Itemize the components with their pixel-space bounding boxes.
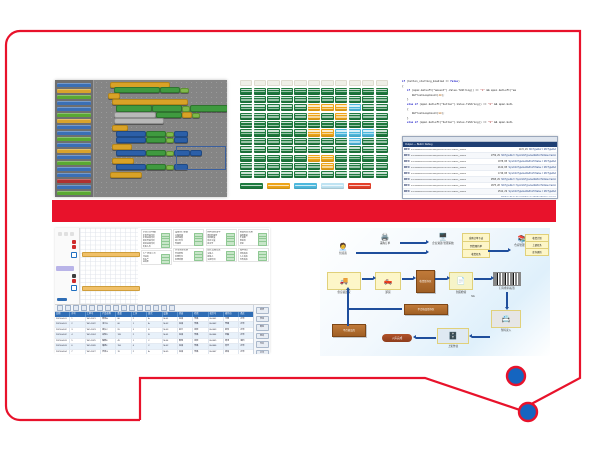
status-cell[interactable] [294, 88, 306, 95]
document-icon: 📄 [457, 278, 466, 285]
barcode-icon [493, 272, 521, 286]
block-comment-b[interactable] [114, 118, 164, 124]
table-cell: WO-1027 [86, 350, 101, 354]
slide-root: if (button_starting_Enabled == false){if… [0, 0, 600, 450]
block-compare-e[interactable] [146, 164, 166, 170]
node-label: 打印条码标签 [499, 287, 515, 290]
status-cell[interactable] [254, 146, 266, 153]
status-cell[interactable] [267, 146, 279, 153]
note-line: 交接时间 [207, 258, 235, 261]
arrowhead-icon [447, 276, 450, 280]
arrowhead-icon [426, 240, 429, 244]
warehouse-flow-diagram: 🧑‍💼 供应商 🖨️ 采购订单 🖥️ 企业资源 管理系统 采购订单下达 到货预约… [320, 228, 550, 356]
status-cell[interactable] [308, 113, 320, 120]
note-value [161, 244, 170, 248]
status-grid-legend [240, 183, 388, 189]
note-block: 异常处理记录异常类型处理时长处理结果 [173, 248, 204, 263]
status-cell[interactable] [254, 104, 266, 111]
node-unload: 🛻 卸货 [376, 272, 400, 294]
node-label: 条码录入 [501, 329, 511, 332]
node-done: 入库完成 [382, 334, 412, 342]
note-column: 设备运行参数主轴转速进给速度加工时长合格率异常处理记录异常类型处理时长处理结果 [173, 229, 204, 303]
status-cell[interactable] [321, 104, 333, 111]
status-cell[interactable] [349, 155, 361, 162]
status-cell[interactable] [349, 121, 361, 128]
legend-item-inspect [294, 183, 317, 189]
status-cell[interactable] [281, 121, 293, 128]
status-grid-header [240, 80, 388, 86]
open-icon[interactable] [65, 305, 71, 311]
status-cell[interactable] [362, 104, 374, 111]
table-side-button[interactable]: 修改 [256, 316, 269, 323]
block-compare-b[interactable] [146, 137, 166, 143]
status-cell[interactable] [376, 104, 388, 111]
note-label: 处理结果 [175, 258, 193, 261]
status-cell[interactable] [321, 146, 333, 153]
note-block: 班次交接信息交班人接班人交接时间 [206, 248, 237, 263]
status-cell[interactable] [321, 171, 333, 178]
status-cell[interactable] [267, 129, 279, 136]
status-cell[interactable] [281, 138, 293, 145]
copy-icon[interactable] [97, 305, 103, 311]
note-value [194, 257, 203, 261]
decorative-frame [0, 0, 600, 450]
status-cell[interactable] [281, 113, 293, 120]
note-column: 作业计划明细计划开始时间计划完成时间实际开始时间实际完成时间负责人员生产进度汇总… [141, 229, 172, 303]
note-line: 综合成本 [240, 258, 268, 261]
block-setcolor-c[interactable] [116, 150, 146, 156]
status-cell[interactable] [349, 88, 361, 95]
arrow-unload-receiving [402, 278, 413, 280]
block-join[interactable] [190, 105, 227, 112]
note-block: 质量检验记录抽检数量不良数检验员结论 [238, 229, 269, 246]
node-label-print: 打印条码标签 [494, 272, 520, 290]
status-cell[interactable] [308, 88, 320, 95]
status-cell[interactable] [294, 163, 306, 170]
status-cell[interactable] [376, 113, 388, 120]
node-label: 到货检验 [456, 291, 466, 294]
status-cell[interactable] [281, 155, 293, 162]
status-cell[interactable] [321, 96, 333, 103]
arrowhead-icon [508, 248, 511, 252]
note-block: 作业计划明细计划开始时间计划完成时间实际开始时间实际完成时间负责人员 [141, 229, 172, 249]
status-cell[interactable] [267, 155, 279, 162]
status-cell[interactable] [308, 171, 320, 178]
node-receiving-area: 收货暂存区 [416, 270, 435, 293]
status-cell[interactable] [321, 113, 333, 120]
node-label: 卸货 [385, 291, 390, 294]
gantt-bar[interactable] [82, 252, 140, 257]
scanner-icon: 📇 [502, 316, 511, 323]
status-cell[interactable] [281, 146, 293, 153]
red-divider-banner [52, 200, 556, 222]
print-icon[interactable] [81, 305, 87, 311]
note-line: 批次号 [207, 242, 235, 245]
arrow-putaway-to-done [416, 337, 436, 339]
table-cell: 合格 [193, 350, 208, 354]
paste-icon[interactable] [105, 305, 111, 311]
arrow-transport-unload [362, 278, 373, 280]
status-cell[interactable] [254, 96, 266, 103]
status-cell[interactable] [349, 96, 361, 103]
status-cell[interactable] [362, 155, 374, 162]
sheet-row-headers [55, 228, 80, 304]
status-cell[interactable] [294, 129, 306, 136]
block-setcolor-e[interactable] [116, 164, 146, 170]
redo-icon[interactable] [121, 305, 127, 311]
note-value [258, 241, 267, 245]
table-side-buttons[interactable]: 新增修改删除查询导出打印 [253, 305, 270, 354]
status-cell[interactable] [335, 113, 347, 120]
note-label: 完成率 [143, 260, 161, 263]
block-eq-a[interactable] [166, 132, 174, 137]
table-side-button[interactable]: 删除 [256, 324, 269, 331]
status-cell[interactable] [362, 146, 374, 153]
sheet-upper-area: 作业计划明细计划开始时间计划完成时间实际开始时间实际完成时间负责人员生产进度汇总… [55, 228, 270, 305]
status-cell[interactable] [267, 104, 279, 111]
status-cell[interactable] [349, 104, 361, 111]
log-row-list[interactable]: INFOsrc/shared/controller/sample/MCS/UPD… [403, 147, 557, 197]
table-cell: A [147, 350, 162, 354]
table-body[interactable]: 2023-04-011WO-1021阀体A802AM-01完成合格B-0041王… [55, 317, 270, 355]
table-row[interactable]: 2023-04-047WO-1027壳体G702AM-05完成合格B-0047郑… [55, 350, 270, 354]
status-cell[interactable] [294, 113, 306, 120]
status-cell[interactable] [240, 96, 252, 103]
status-cell[interactable] [281, 104, 293, 111]
table-cell: M-05 [163, 350, 178, 354]
status-cell[interactable] [240, 88, 252, 95]
note-value [226, 241, 235, 245]
arrow-receiving-inspect [435, 278, 447, 280]
table-side-button[interactable]: 导出 [256, 341, 269, 348]
block-setcolor-b[interactable] [116, 137, 146, 143]
note-label: 负责人员 [143, 245, 161, 248]
block-op[interactable] [182, 106, 190, 112]
status-cell[interactable] [254, 155, 266, 162]
status-cell[interactable] [321, 155, 333, 162]
arrow-reject-up [347, 290, 349, 309]
status-cell[interactable] [321, 138, 333, 145]
note-value [258, 257, 267, 261]
log-row[interactable]: INFOsrc/shared/controller/sample/MCS/UPD… [403, 195, 557, 197]
status-cell[interactable] [294, 155, 306, 162]
status-cell[interactable] [376, 121, 388, 128]
status-cell[interactable] [335, 121, 347, 128]
status-cell[interactable] [376, 138, 388, 145]
status-cell[interactable] [267, 88, 279, 95]
status-cell[interactable] [267, 138, 279, 145]
node-transport: 🚚 供应商送货 [328, 272, 360, 294]
status-cell[interactable] [321, 88, 333, 95]
status-cell[interactable] [376, 163, 388, 170]
status-cell[interactable] [321, 163, 333, 170]
legend-item-error [348, 183, 371, 189]
arrow-inspect-print [474, 278, 491, 280]
arrow-erp-to-wms [488, 250, 508, 252]
table-cell: 7 [70, 350, 85, 354]
status-cell[interactable] [335, 146, 347, 153]
status-cell[interactable] [308, 121, 320, 128]
block-selection-frame [176, 146, 226, 170]
node-label: 上架作业 [448, 345, 458, 348]
status-cell[interactable] [294, 104, 306, 111]
table-side-button[interactable]: 新增 [256, 307, 269, 314]
block-logic[interactable] [182, 112, 192, 118]
status-cell[interactable] [362, 88, 374, 95]
status-cell[interactable] [281, 163, 293, 170]
status-cell[interactable] [240, 121, 252, 128]
legend-item-standby [321, 183, 344, 189]
status-cell[interactable] [308, 129, 320, 136]
data-table-area: 日期序号工单号产品名称数量工序班次设备状态检验批次号操作员备注时间 2023-0… [55, 305, 270, 354]
status-cell[interactable] [376, 146, 388, 153]
arrowhead-icon [426, 250, 429, 254]
arrowhead-icon [373, 276, 376, 280]
status-cell[interactable] [240, 113, 252, 120]
note-label: 合格率 [175, 242, 193, 245]
status-cell[interactable] [254, 171, 266, 178]
status-cell[interactable] [294, 171, 306, 178]
arrow-order-to-erp [400, 242, 426, 244]
computer-icon: 🖥️ [439, 234, 448, 241]
table-cell: 70 [116, 350, 131, 354]
status-cell[interactable] [281, 171, 293, 178]
block-parse[interactable] [116, 105, 152, 112]
code-editor-screenshot: if (button_starting_Enabled == false){if… [396, 80, 556, 197]
status-cell[interactable] [281, 88, 293, 95]
new-icon[interactable] [57, 305, 63, 311]
status-cell[interactable] [240, 129, 252, 136]
shelf-icon: 🗄️ [449, 333, 458, 340]
node-reject-store: 不合格品库 [332, 324, 366, 337]
note-line: 负责人员 [143, 245, 171, 248]
arrow-print-to-scan [506, 292, 508, 308]
arrowhead-icon [469, 334, 472, 338]
node-scan: 📇 条码录入 [492, 310, 520, 332]
truck-icon: 🚚 [340, 278, 349, 285]
table-cell: 完成 [178, 350, 193, 354]
settings-icon[interactable] [169, 305, 175, 311]
arrowhead-icon [505, 307, 509, 310]
arrow-supplier-to-erp [356, 252, 426, 254]
status-cell[interactable] [240, 138, 252, 145]
blocks-canvas[interactable] [94, 80, 227, 197]
status-cell[interactable] [281, 129, 293, 136]
status-cell[interactable] [335, 129, 347, 136]
status-cell[interactable] [308, 104, 320, 111]
table-side-button[interactable]: 打印 [256, 350, 269, 355]
arrowhead-icon [346, 287, 350, 290]
status-cell[interactable] [376, 88, 388, 95]
block-eq-b[interactable] [166, 138, 174, 143]
status-cell[interactable] [254, 121, 266, 128]
status-cell[interactable] [308, 96, 320, 103]
status-cell[interactable] [240, 155, 252, 162]
status-cell[interactable] [376, 129, 388, 136]
node-reject-area: 不合格品暂存区 [404, 304, 448, 315]
status-cell[interactable] [267, 96, 279, 103]
arrowhead-icon [491, 276, 494, 280]
status-cell[interactable] [349, 113, 361, 120]
status-cell[interactable] [335, 88, 347, 95]
status-cell[interactable] [308, 163, 320, 170]
undo-icon[interactable] [113, 305, 119, 311]
status-grid-cells[interactable] [240, 88, 388, 179]
node-erp: 🖥️ 企业资源 管理系统 [428, 234, 458, 245]
status-cell[interactable] [321, 121, 333, 128]
status-cell[interactable] [362, 96, 374, 103]
status-cell[interactable] [362, 138, 374, 145]
planning-sheet-screenshot: 作业计划明细计划开始时间计划完成时间实际开始时间实际完成时间负责人员生产进度汇总… [55, 228, 270, 353]
arrowhead-icon [413, 276, 416, 280]
code-line[interactable]: else if (mpmc.GetLeft("button").Value.To… [396, 121, 556, 126]
person-icon: 🧑‍💼 [339, 244, 348, 251]
note-label: 批次号 [207, 242, 225, 245]
status-cell[interactable] [335, 104, 347, 111]
status-cell[interactable] [362, 121, 374, 128]
block-eq-c[interactable] [166, 151, 174, 156]
note-label: 结论 [240, 242, 258, 245]
status-cell[interactable] [267, 171, 279, 178]
status-cell[interactable] [362, 129, 374, 136]
status-cell[interactable] [308, 138, 320, 145]
status-cell[interactable] [294, 121, 306, 128]
block-arg[interactable] [160, 87, 180, 93]
status-cell[interactable] [362, 163, 374, 170]
note-value [194, 241, 203, 245]
note-value [161, 260, 170, 264]
printer-icon: 🖨️ [381, 234, 390, 241]
status-cell[interactable] [240, 104, 252, 111]
status-cell[interactable] [294, 146, 306, 153]
status-cell[interactable] [308, 146, 320, 153]
arrowhead-icon [413, 335, 416, 339]
status-cell[interactable] [376, 155, 388, 162]
status-cell[interactable] [362, 171, 374, 178]
status-cell[interactable] [349, 171, 361, 178]
status-cell[interactable] [321, 129, 333, 136]
build-output-panel: Output — Build / Debug INFOsrc/shared/co… [402, 136, 558, 199]
table-cell: 郑海 [224, 350, 239, 354]
node-ng-mark: NG [468, 294, 478, 298]
blocks-palette[interactable] [55, 80, 94, 197]
status-cell[interactable] [267, 113, 279, 120]
note-value [226, 257, 235, 261]
note-column: 物料领用清单原材料编号领用数量库存余量批次号班次交接信息交班人接班人交接时间 [206, 229, 237, 303]
status-cell[interactable] [281, 96, 293, 103]
table-cell: 2023-04-04 [55, 350, 70, 354]
status-grid-screenshot [240, 80, 388, 197]
status-cell[interactable] [335, 163, 347, 170]
note-label: 交接时间 [207, 258, 225, 261]
status-cell[interactable] [254, 129, 266, 136]
node-putaway: 🗄️ 上架作业 [438, 328, 468, 348]
status-cell[interactable] [294, 138, 306, 145]
filter-icon[interactable] [129, 305, 135, 311]
block-reset-data[interactable] [110, 172, 142, 178]
note-line: 合格率 [175, 242, 203, 245]
accent-dot-lower [519, 403, 537, 421]
sort-icon[interactable] [137, 305, 143, 311]
status-cell[interactable] [308, 155, 320, 162]
search-icon[interactable] [145, 305, 151, 311]
status-cell[interactable] [349, 146, 361, 153]
status-cell[interactable] [254, 138, 266, 145]
status-cell[interactable] [254, 113, 266, 120]
status-cell[interactable] [240, 146, 252, 153]
node-inspect: 📄 到货检验 [450, 272, 472, 294]
block-plug[interactable] [180, 88, 189, 93]
cut-icon[interactable] [89, 305, 95, 311]
status-cell[interactable] [267, 163, 279, 170]
status-cell[interactable] [349, 138, 361, 145]
status-cell[interactable] [376, 171, 388, 178]
note-block: 成本统计材料成本人工成本综合成本 [238, 248, 269, 263]
note-block: 设备运行参数主轴转速进给速度加工时长合格率 [173, 229, 204, 246]
note-block: 生产进度汇总已完成待生产完成率 [141, 250, 172, 265]
node-label: 采购订单 [380, 242, 390, 245]
node-supplier: 🧑‍💼 供应商 [330, 244, 356, 255]
status-cell[interactable] [349, 129, 361, 136]
status-cell[interactable] [335, 138, 347, 145]
node-order: 🖨️ 采购订单 [372, 234, 398, 245]
status-cell[interactable] [294, 96, 306, 103]
blocks-editor-screenshot [55, 80, 227, 197]
table-cell: B-0047 [209, 350, 224, 354]
status-cell[interactable] [240, 163, 252, 170]
legend-item-warning [267, 183, 290, 189]
status-cell[interactable] [254, 163, 266, 170]
status-cell[interactable] [254, 88, 266, 95]
table-cell: 壳体G [101, 350, 116, 354]
arrow-scan-to-putaway [472, 336, 490, 338]
note-label: 综合成本 [240, 258, 258, 261]
refresh-icon[interactable] [153, 305, 159, 311]
status-cell[interactable] [267, 121, 279, 128]
note-column: 质量检验记录抽检数量不良数检验员结论成本统计材料成本人工成本综合成本 [238, 229, 269, 303]
block-compare-c[interactable] [146, 150, 166, 156]
export-icon[interactable] [161, 305, 167, 311]
block-eq-e[interactable] [166, 165, 174, 170]
status-cell[interactable] [335, 171, 347, 178]
status-cell[interactable] [240, 171, 252, 178]
table-side-button[interactable]: 查询 [256, 333, 269, 340]
arrow-reject-to-transport [348, 308, 402, 310]
note-receiving-task: 收货任务 [462, 249, 490, 258]
code-text-area[interactable]: if (button_starting_Enabled == false){if… [396, 80, 556, 137]
block-call[interactable] [114, 87, 160, 93]
block-setlabel[interactable] [152, 105, 182, 112]
note-line: 结论 [240, 242, 268, 245]
note-stock-update: 库存更新 [525, 248, 549, 256]
gantt-grid[interactable] [80, 228, 138, 304]
save-icon[interactable] [73, 305, 79, 311]
block-val-b[interactable] [174, 137, 188, 143]
status-cell[interactable] [335, 96, 347, 103]
arrow-reject-store-link [347, 308, 349, 326]
note-block: 物料领用清单原材料编号领用数量库存余量批次号 [206, 229, 237, 246]
status-cell[interactable] [362, 113, 374, 120]
gantt-bar[interactable] [82, 286, 140, 291]
status-cell[interactable] [335, 155, 347, 162]
status-cell[interactable] [376, 96, 388, 103]
legend-item-normal [240, 183, 263, 189]
status-cell[interactable] [349, 163, 361, 170]
node-label: 企业资源 管理系统 [432, 242, 453, 245]
sheet-note-groups: 作业计划明细计划开始时间计划完成时间实际开始时间实际完成时间负责人员生产进度汇总… [141, 229, 269, 303]
block-true[interactable] [192, 113, 200, 118]
note-line: 处理结果 [175, 258, 203, 261]
